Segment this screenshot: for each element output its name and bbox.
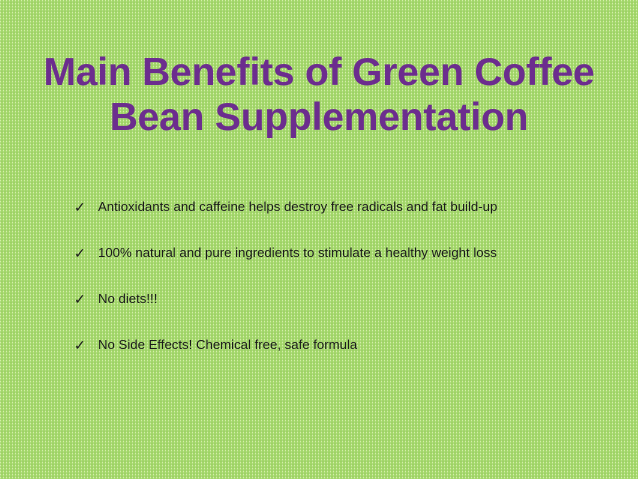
page-title: Main Benefits of Green Coffee Bean Suppl… bbox=[0, 50, 638, 140]
benefits-list: ✓ Antioxidants and caffeine helps destro… bbox=[70, 196, 610, 380]
list-item: ✓ Antioxidants and caffeine helps destro… bbox=[70, 196, 610, 242]
list-item: ✓ No Side Effects! Chemical free, safe f… bbox=[70, 334, 610, 380]
checkmark-icon: ✓ bbox=[74, 334, 92, 356]
list-item: ✓ 100% natural and pure ingredients to s… bbox=[70, 242, 610, 288]
list-item-label: No Side Effects! Chemical free, safe for… bbox=[98, 334, 610, 356]
list-item-label: 100% natural and pure ingredients to sti… bbox=[98, 242, 610, 264]
list-item-label: No diets!!! bbox=[98, 288, 610, 310]
checkmark-icon: ✓ bbox=[74, 196, 92, 218]
list-item-label: Antioxidants and caffeine helps destroy … bbox=[98, 196, 610, 218]
title-line-1: Main Benefits of Green Coffee bbox=[0, 50, 638, 95]
title-line-2: Bean Supplementation bbox=[0, 95, 638, 140]
slide-canvas: Main Benefits of Green Coffee Bean Suppl… bbox=[0, 0, 638, 479]
list-item: ✓ No diets!!! bbox=[70, 288, 610, 334]
checkmark-icon: ✓ bbox=[74, 242, 92, 264]
checkmark-icon: ✓ bbox=[74, 288, 92, 310]
